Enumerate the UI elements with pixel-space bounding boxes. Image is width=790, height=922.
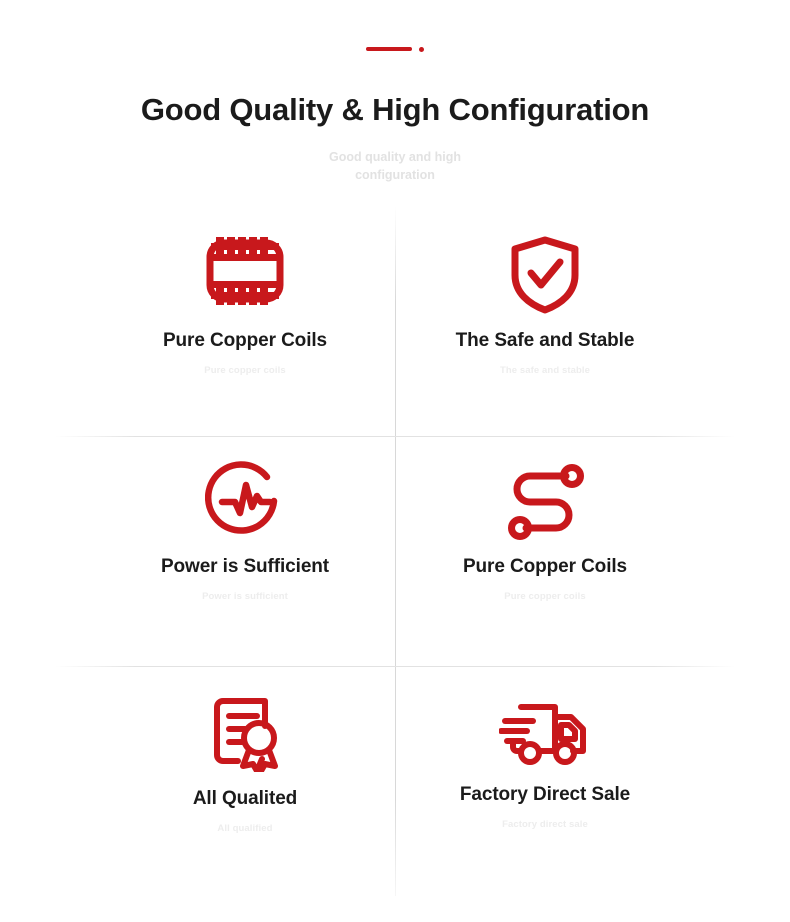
page-title: Good Quality & High Configuration xyxy=(0,92,790,128)
route-path-icon xyxy=(504,460,586,542)
red-bar-icon xyxy=(366,47,412,51)
feature-card-pure-copper-coils-route[interactable]: Pure Copper Coils Pure copper coils xyxy=(395,436,695,666)
feature-title: Power is Sufficient xyxy=(161,556,329,578)
title-decoration xyxy=(0,42,790,56)
copper-coil-icon xyxy=(198,230,292,312)
red-dot-icon xyxy=(419,47,424,52)
feature-subtitle: Factory direct sale xyxy=(502,819,588,830)
delivery-truck-icon xyxy=(499,690,591,772)
feature-subtitle: Pure copper coils xyxy=(204,365,285,376)
certificate-icon xyxy=(205,690,285,772)
feature-title: All Qualited xyxy=(193,788,297,810)
feature-card-the-safe-and-stable[interactable]: The Safe and Stable The safe and stable xyxy=(395,206,695,436)
feature-title: Pure Copper Coils xyxy=(463,556,627,578)
feature-title: Pure Copper Coils xyxy=(163,330,327,352)
feature-grid: Pure Copper Coils Pure copper coils The … xyxy=(95,206,695,896)
feature-highlights-page: Good Quality & High Configuration Good q… xyxy=(0,0,790,922)
page-subtitle: Good quality and high configuration xyxy=(290,148,500,184)
feature-title: Factory Direct Sale xyxy=(460,784,630,806)
feature-subtitle: All qualified xyxy=(217,823,272,834)
feature-card-factory-direct-sale[interactable]: Factory Direct Sale Factory direct sale xyxy=(395,666,695,896)
feature-subtitle: Power is sufficient xyxy=(202,591,288,602)
feature-card-all-qualited[interactable]: All Qualited All qualified xyxy=(95,666,395,896)
feature-subtitle: The safe and stable xyxy=(500,365,590,376)
feature-card-pure-copper-coils[interactable]: Pure Copper Coils Pure copper coils xyxy=(95,206,395,436)
shield-check-icon xyxy=(507,234,583,316)
power-pulse-icon xyxy=(205,460,285,542)
feature-subtitle: Pure copper coils xyxy=(504,591,585,602)
feature-card-power-is-sufficient[interactable]: Power is Sufficient Power is sufficient xyxy=(95,436,395,666)
feature-title: The Safe and Stable xyxy=(456,330,635,352)
page-header: Good Quality & High Configuration Good q… xyxy=(0,0,790,184)
